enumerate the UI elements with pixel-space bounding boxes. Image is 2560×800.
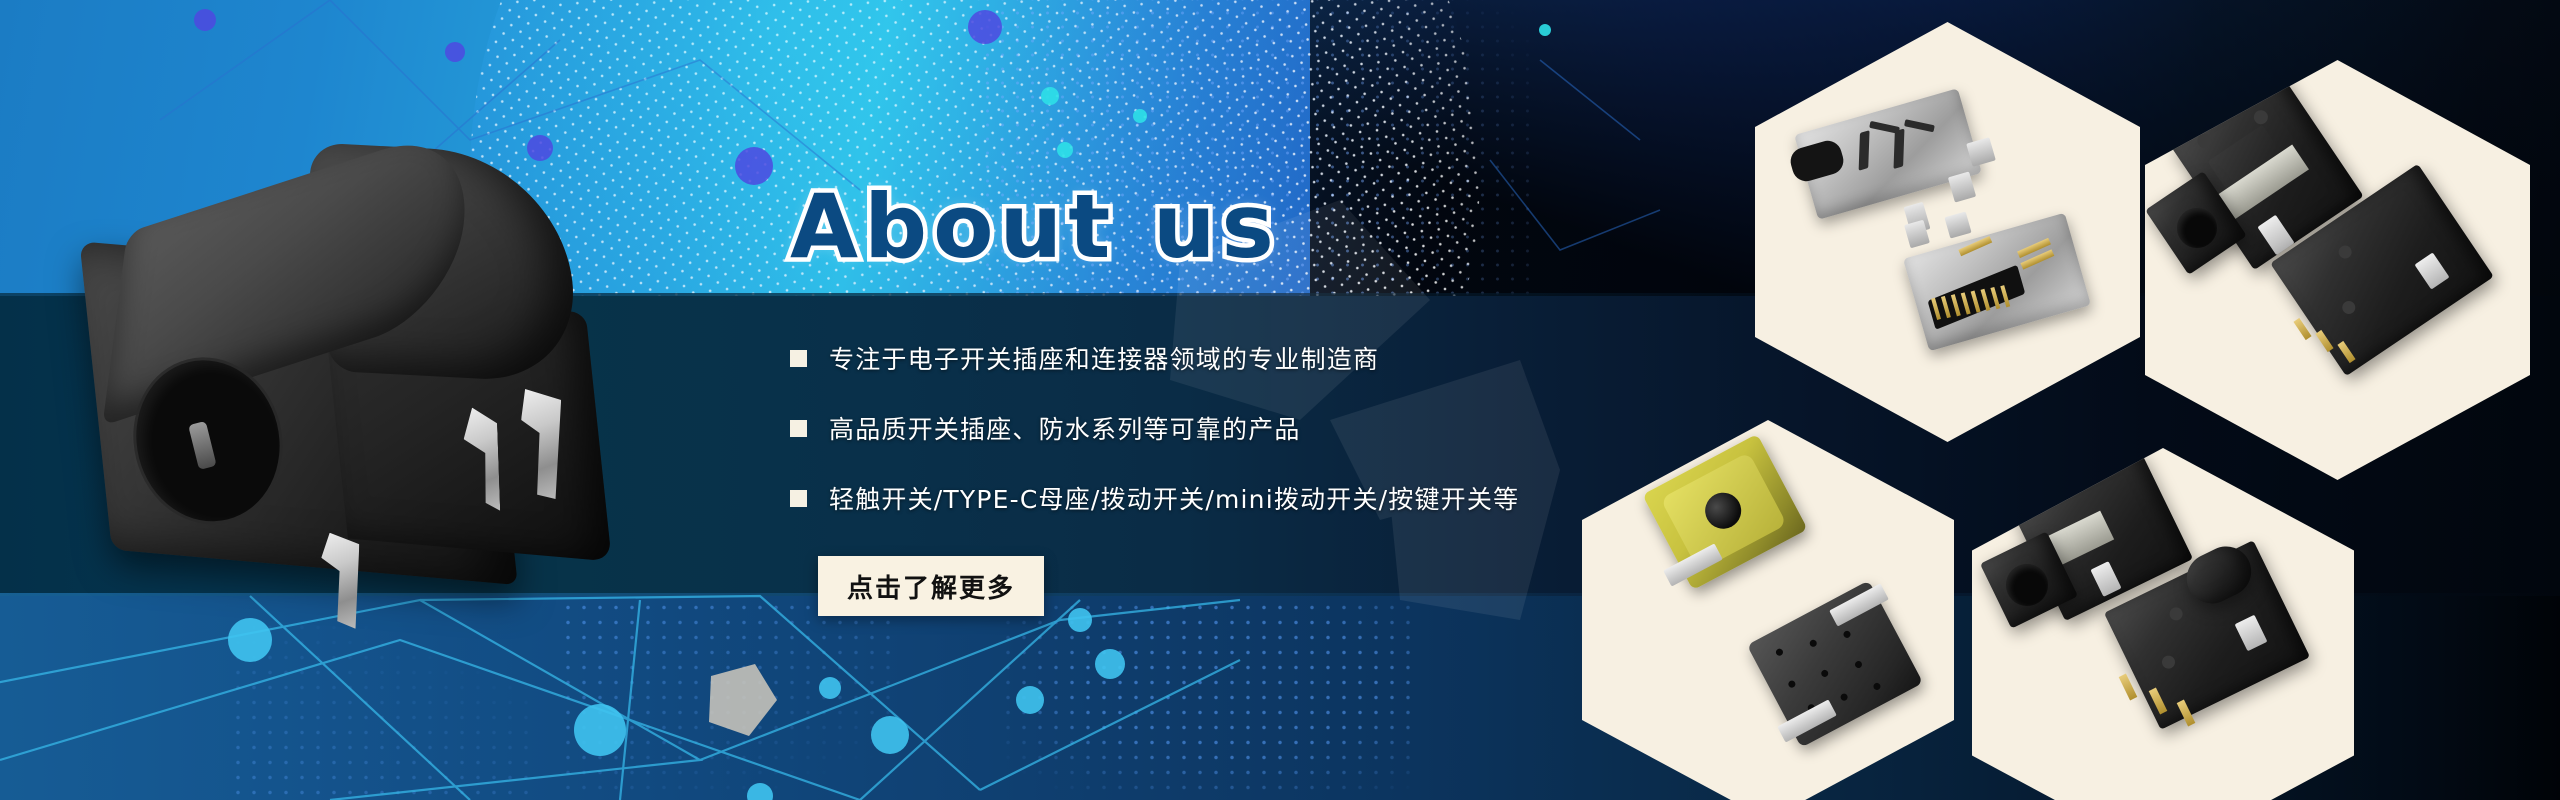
molding-nub [2251, 108, 2270, 127]
square-bullet-icon [790, 350, 807, 367]
molding-nub [2167, 605, 2184, 622]
vent-hole [1787, 679, 1796, 688]
learn-more-button-label: 点击了解更多 [847, 568, 1015, 605]
vent-hole [1839, 692, 1848, 701]
list-item-label: 高品质开关插座、防水系列等可靠的产品 [829, 410, 1301, 446]
square-bullet-icon [790, 490, 807, 507]
vent-hole [1820, 669, 1829, 678]
square-bullet-icon [790, 420, 807, 437]
feature-list: 专注于电子开关插座和连接器领域的专业制造商 高品质开关插座、防水系列等可靠的产品… [790, 340, 1519, 550]
shell-slot [1869, 121, 1900, 134]
tactile-switch-black [1747, 580, 1923, 747]
hero-product-dc-power-jack [74, 132, 676, 618]
smt-pad [1966, 137, 1996, 167]
list-item: 轻触开关/TYPE-C母座/拨动开关/mini拨动开关/按键开关等 [790, 480, 1519, 516]
type-c-shell-bottom [1903, 213, 2091, 352]
page-title-text: About us [790, 175, 1280, 278]
molding-nub [2160, 653, 2177, 670]
shell-slot [1904, 119, 1935, 132]
about-us-banner: About us 专注于电子开关插座和连接器领域的专业制造商 高品质开关插座、防… [0, 0, 2560, 800]
vent-hole [1775, 647, 1784, 656]
smt-pad [1948, 171, 1976, 202]
list-item-label: 专注于电子开关插座和连接器领域的专业制造商 [829, 340, 1379, 376]
gold-pin [1958, 236, 1992, 256]
shell-slot [1859, 130, 1870, 171]
smt-pad [1944, 211, 1971, 238]
list-item: 高品质开关插座、防水系列等可靠的产品 [790, 410, 1519, 446]
vent-hole [1872, 682, 1881, 691]
vent-hole [1842, 630, 1851, 639]
jack-barrel-hole [2006, 564, 2048, 606]
molding-nub [2336, 243, 2354, 261]
jack-barrel-hole [2177, 208, 2217, 248]
shell-slot [1894, 128, 1905, 169]
page-title: About us [790, 175, 1280, 278]
list-item-label: 轻触开关/TYPE-C母座/拨动开关/mini拨动开关/按键开关等 [829, 480, 1519, 516]
molding-nub [2340, 298, 2358, 316]
learn-more-button[interactable]: 点击了解更多 [818, 556, 1044, 616]
vent-hole [1808, 639, 1817, 648]
vent-hole [1854, 660, 1863, 669]
list-item: 专注于电子开关插座和连接器领域的专业制造商 [790, 340, 1519, 376]
